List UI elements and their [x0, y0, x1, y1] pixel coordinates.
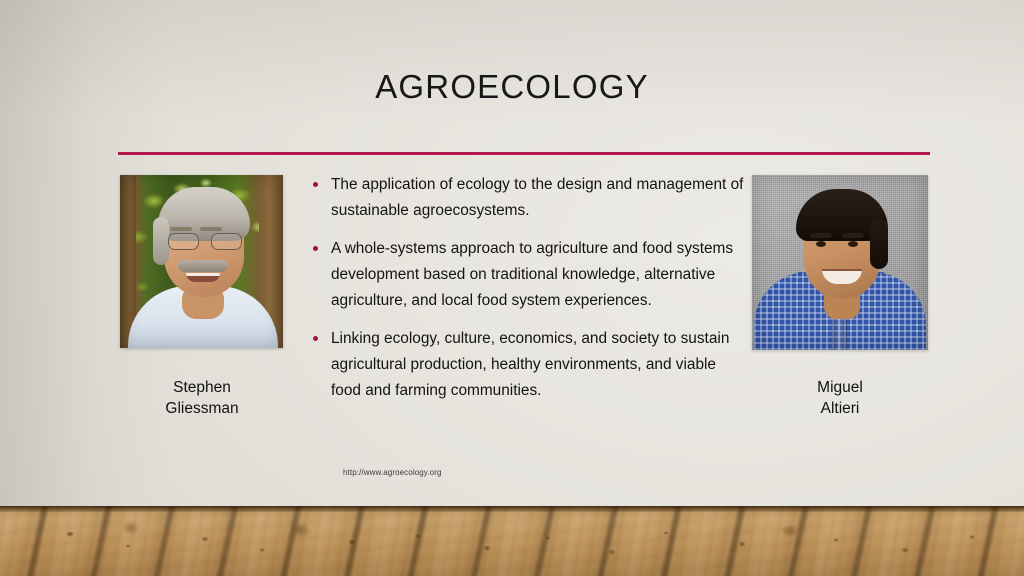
bullet-item: Linking ecology, culture, economics, and… [313, 326, 745, 404]
bullet-dot-icon [313, 182, 318, 187]
eye-right [848, 241, 858, 247]
presentation-slide: AGROECOLOGY Stephen Gliessman [0, 0, 1024, 576]
source-url-text: http://www.agroecology.org [343, 468, 442, 477]
portrait-stephen-gliessman [120, 175, 283, 348]
bullet-text: The application of ecology to the design… [331, 172, 745, 224]
eye-left [816, 241, 826, 247]
floor-knots [0, 506, 1024, 576]
mustache [178, 260, 228, 272]
slide-title: AGROECOLOGY [0, 68, 1024, 106]
bullet-text: Linking ecology, culture, economics, and… [331, 326, 745, 404]
bullet-item: A whole-systems approach to agriculture … [313, 236, 745, 314]
floor-top-edge [0, 506, 1024, 512]
person-last-name: Gliessman [107, 398, 297, 419]
person-first-name: Stephen [107, 377, 297, 398]
smile [186, 273, 220, 282]
eyebrow-right [842, 233, 864, 238]
person-first-name: Miguel [745, 377, 935, 398]
eyebrow-right [200, 227, 222, 231]
eyeglasses-icon [166, 233, 244, 249]
bullet-text: A whole-systems approach to agriculture … [331, 236, 745, 314]
caption-miguel-altieri: Miguel Altieri [745, 377, 935, 419]
person-last-name: Altieri [745, 398, 935, 419]
wooden-floor [0, 506, 1024, 576]
eyebrow-left [810, 233, 832, 238]
title-divider-rule [118, 152, 930, 155]
bullet-dot-icon [313, 336, 318, 341]
portrait-miguel-altieri [752, 175, 928, 350]
caption-stephen-gliessman: Stephen Gliessman [107, 377, 297, 419]
bullet-list: The application of ecology to the design… [313, 172, 745, 416]
dark-hair-side [870, 219, 888, 269]
bullet-dot-icon [313, 246, 318, 251]
bullet-item: The application of ecology to the design… [313, 172, 745, 224]
eyebrow-left [170, 227, 192, 231]
